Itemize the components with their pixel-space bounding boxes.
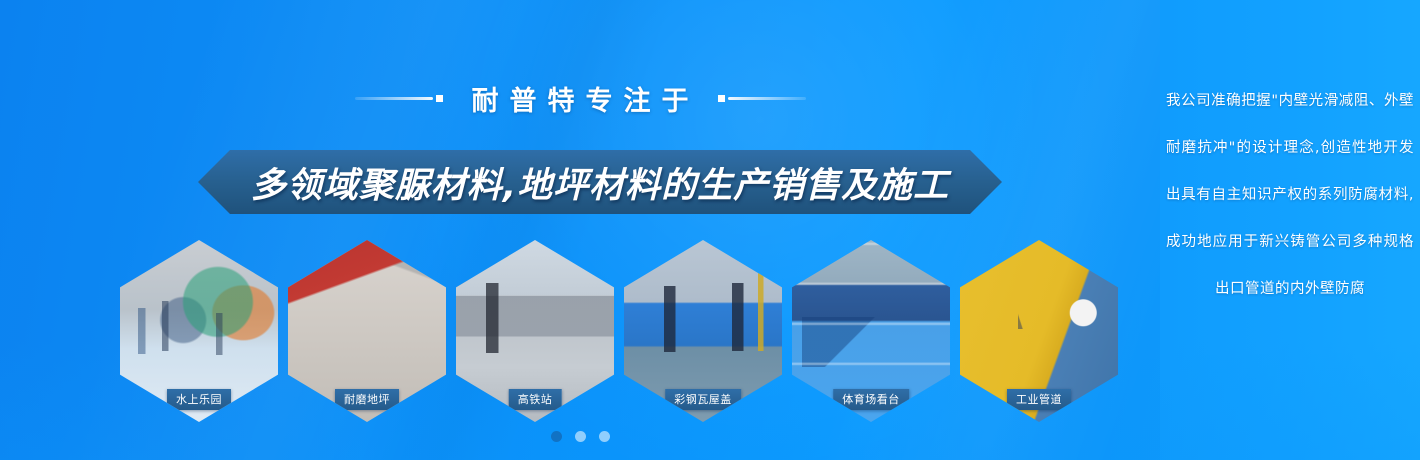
promo-banner: 耐普特专注于 多领域聚脲材料,地坪材料的生产销售及施工 我公司准确把握"内壁光滑… [0, 0, 1420, 460]
rule-line-icon [728, 97, 806, 100]
side-paragraph: 我公司准确把握"内壁光滑减阻、外壁耐磨抗冲"的设计理念,创造性地开发出具有自主知… [1166, 78, 1414, 313]
side-paragraph-text: 我公司准确把握"内壁光滑减阻、外壁耐磨抗冲"的设计理念,创造性地开发出具有自主知… [1166, 78, 1414, 313]
rule-dot-icon [718, 95, 725, 102]
carousel-dot-3[interactable] [599, 431, 610, 442]
thumbnail-label: 工业管道 [1007, 389, 1071, 410]
main-title-banner: 多领域聚脲材料,地坪材料的生产销售及施工 [198, 150, 1002, 214]
thumbnail-high-speed-rail-station[interactable]: 高铁站 [456, 240, 614, 422]
rule-left-decoration [355, 95, 443, 102]
carousel-dots [0, 431, 1160, 442]
thumbnail-label: 彩钢瓦屋盖 [665, 389, 741, 410]
thumbnail-label: 耐磨地坪 [335, 389, 399, 410]
carousel-dot-1[interactable] [551, 431, 562, 442]
headline-row: 耐普特专注于 [0, 76, 1160, 120]
main-title-text: 多领域聚脲材料,地坪材料的生产销售及施工 [251, 157, 949, 208]
rule-right-decoration [718, 95, 806, 102]
rule-dot-icon [436, 95, 443, 102]
thumbnail-industrial-pipeline[interactable]: 工业管道 [960, 240, 1118, 422]
thumbnail-stadium-grandstand[interactable]: 体育场看台 [792, 240, 950, 422]
thumbnail-wear-resistant-flooring[interactable]: 耐磨地坪 [288, 240, 446, 422]
thumbnail-color-steel-tile-roof[interactable]: 彩钢瓦屋盖 [624, 240, 782, 422]
headline-text: 耐普特专注于 [461, 79, 700, 118]
thumbnail-label: 高铁站 [509, 389, 562, 410]
carousel-dot-2[interactable] [575, 431, 586, 442]
thumbnail-label: 水上乐园 [167, 389, 231, 410]
thumbnail-water-park[interactable]: 水上乐园 [120, 240, 278, 422]
rule-line-icon [355, 97, 433, 100]
thumbnail-row: 水上乐园 耐磨地坪 高铁站 彩钢瓦屋盖 体育场看台 工业管道 [120, 240, 1130, 422]
thumbnail-label: 体育场看台 [833, 389, 909, 410]
